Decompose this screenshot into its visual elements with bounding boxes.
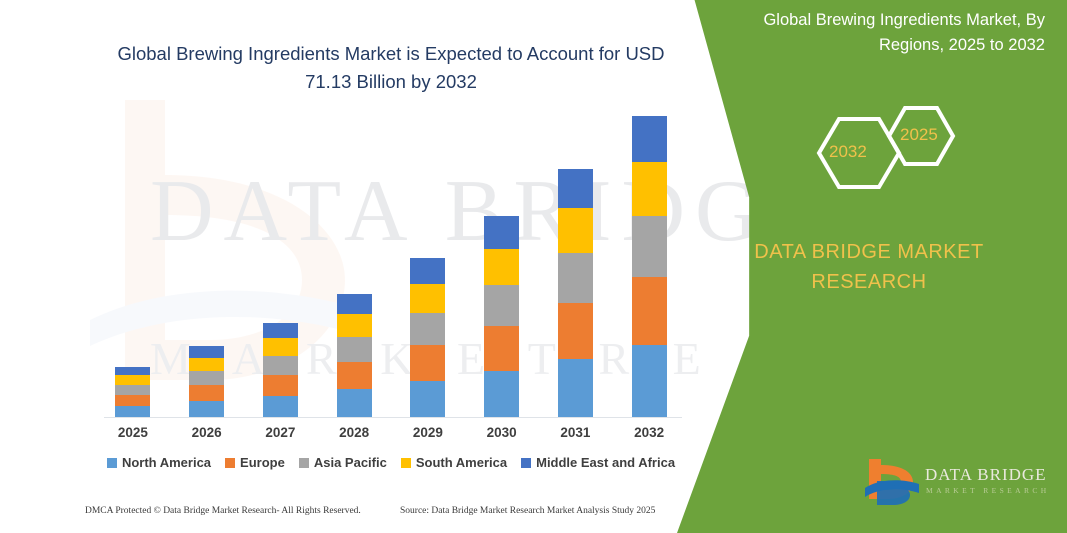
bar-segment bbox=[632, 345, 667, 417]
brand-panel: Global Brewing Ingredients Market, By Re… bbox=[677, 0, 1067, 533]
bar-segment bbox=[115, 385, 150, 395]
bar-segment bbox=[337, 314, 372, 336]
bar-segment bbox=[337, 362, 372, 390]
bar-segment bbox=[263, 338, 298, 355]
bar-segment bbox=[484, 371, 519, 417]
bar-segment bbox=[558, 169, 593, 208]
stacked-bar bbox=[263, 323, 298, 417]
bar-segment bbox=[337, 337, 372, 362]
legend-item[interactable]: Europe bbox=[225, 455, 285, 470]
legend-swatch-icon bbox=[225, 458, 235, 468]
bar-segment bbox=[189, 401, 224, 417]
bar-segment bbox=[263, 375, 298, 396]
brand-line-2: RESEARCH bbox=[719, 267, 1019, 297]
bar-segment bbox=[410, 284, 445, 313]
bar-segment bbox=[410, 313, 445, 345]
x-axis-tick-label: 2029 bbox=[391, 425, 465, 440]
data-bridge-logo-icon bbox=[863, 455, 923, 507]
bar-column bbox=[317, 110, 391, 417]
brand-line-1: DATA BRIDGE MARKET bbox=[719, 237, 1019, 267]
legend-swatch-icon bbox=[107, 458, 117, 468]
bar-segment bbox=[558, 208, 593, 253]
legend-swatch-icon bbox=[521, 458, 531, 468]
bar-segment bbox=[410, 381, 445, 417]
bar-segment bbox=[632, 277, 667, 346]
bar-segment bbox=[558, 253, 593, 303]
bar-segment bbox=[189, 346, 224, 358]
bar-segment bbox=[115, 367, 150, 376]
bar-segment bbox=[115, 406, 150, 417]
bar-column bbox=[612, 110, 686, 417]
bar-segment bbox=[632, 162, 667, 216]
page-title: Global Brewing Ingredients Market is Exp… bbox=[96, 40, 686, 96]
legend-swatch-icon bbox=[401, 458, 411, 468]
chart-plot-area bbox=[96, 110, 686, 418]
x-axis-labels: 20252026202720282029203020312032 bbox=[96, 425, 686, 440]
legend-item[interactable]: Asia Pacific bbox=[299, 455, 387, 470]
x-axis-tick-label: 2030 bbox=[465, 425, 539, 440]
bar-segment bbox=[484, 326, 519, 371]
stacked-bar bbox=[558, 169, 593, 417]
stacked-bar bbox=[189, 346, 224, 417]
legend-label: Asia Pacific bbox=[314, 455, 387, 470]
panel-title: Global Brewing Ingredients Market, By Re… bbox=[735, 8, 1045, 58]
bar-column bbox=[244, 110, 318, 417]
legend-item[interactable]: Middle East and Africa bbox=[521, 455, 675, 470]
bar-segment bbox=[189, 358, 224, 371]
bar-segment bbox=[189, 371, 224, 386]
footer-copyright: DMCA Protected © Data Bridge Market Rese… bbox=[85, 506, 361, 516]
hexagon-label-2032: 2032 bbox=[829, 142, 867, 162]
brand-name: DATA BRIDGE MARKET RESEARCH bbox=[719, 237, 1019, 297]
bar-segment bbox=[558, 359, 593, 417]
stacked-bar bbox=[337, 294, 372, 417]
bar-segment bbox=[263, 356, 298, 375]
stacked-bar bbox=[632, 116, 667, 417]
x-axis-tick-label: 2031 bbox=[539, 425, 613, 440]
bar-column bbox=[539, 110, 613, 417]
bar-segment bbox=[484, 216, 519, 248]
bar-segment bbox=[558, 303, 593, 359]
stacked-bar bbox=[410, 258, 445, 417]
bar-segment bbox=[632, 216, 667, 277]
bar-segment bbox=[263, 396, 298, 417]
legend-swatch-icon bbox=[299, 458, 309, 468]
x-axis-tick-label: 2025 bbox=[96, 425, 170, 440]
legend-item[interactable]: South America bbox=[401, 455, 507, 470]
x-axis-tick-label: 2027 bbox=[244, 425, 318, 440]
bar-column bbox=[465, 110, 539, 417]
legend-item[interactable]: North America bbox=[107, 455, 211, 470]
legend-label: Middle East and Africa bbox=[536, 455, 675, 470]
logo-wordmark: DATA BRIDGE bbox=[925, 465, 1047, 485]
legend-label: Europe bbox=[240, 455, 285, 470]
bar-segment bbox=[410, 258, 445, 284]
x-axis-tick-label: 2032 bbox=[612, 425, 686, 440]
bar-segment bbox=[410, 345, 445, 381]
bar-column bbox=[391, 110, 465, 417]
bar-segment bbox=[263, 323, 298, 339]
x-axis-line bbox=[104, 417, 682, 418]
bar-segment bbox=[115, 395, 150, 406]
footer: DMCA Protected © Data Bridge Market Rese… bbox=[0, 506, 700, 528]
stacked-bar bbox=[115, 367, 150, 417]
bar-segment bbox=[189, 385, 224, 401]
bar-column bbox=[170, 110, 244, 417]
infographic-root: DATA BRIDGE M A R K E T R E S E A R C H … bbox=[0, 0, 1067, 533]
bar-segment bbox=[632, 116, 667, 162]
hexagon-label-2025: 2025 bbox=[900, 125, 938, 145]
logo-tagline: MARKET RESEARCH bbox=[926, 486, 1050, 495]
legend-label: North America bbox=[122, 455, 211, 470]
x-axis-tick-label: 2028 bbox=[317, 425, 391, 440]
hexagon-group: 2032 2025 bbox=[801, 98, 991, 208]
company-logo: DATA BRIDGE MARKET RESEARCH bbox=[863, 455, 1053, 513]
stacked-bar bbox=[484, 216, 519, 417]
bar-segment bbox=[115, 375, 150, 384]
bar-column bbox=[96, 110, 170, 417]
bar-group bbox=[96, 110, 686, 417]
bar-segment bbox=[337, 389, 372, 417]
chart-legend: North AmericaEuropeAsia PacificSouth Ame… bbox=[96, 455, 686, 470]
x-axis-tick-label: 2026 bbox=[170, 425, 244, 440]
footer-source: Source: Data Bridge Market Research Mark… bbox=[400, 506, 655, 516]
bar-segment bbox=[484, 285, 519, 326]
legend-label: South America bbox=[416, 455, 507, 470]
bar-segment bbox=[484, 249, 519, 285]
bar-segment bbox=[337, 294, 372, 314]
